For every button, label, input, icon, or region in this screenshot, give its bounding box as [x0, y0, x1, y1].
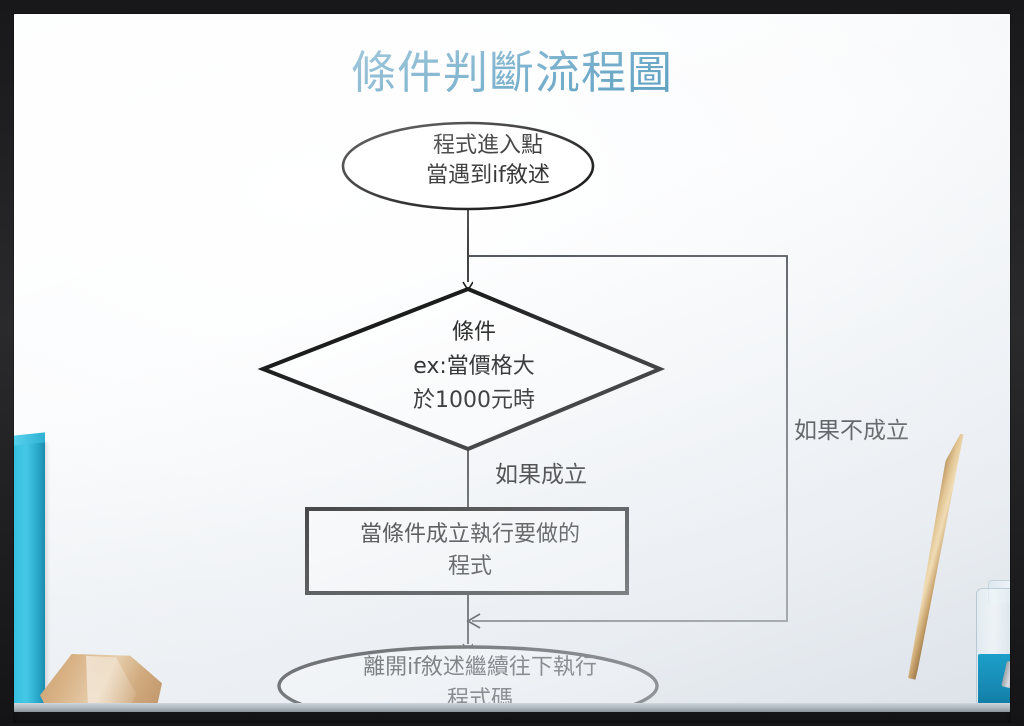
whiteboard-surface: 條件判斷流程圖: [14, 14, 1010, 712]
whiteboard-frame: 條件判斷流程圖: [0, 0, 1024, 726]
node-start-shape[interactable]: [343, 123, 593, 209]
node-decision-shape[interactable]: [263, 289, 660, 449]
flowchart-svg: [14, 14, 1010, 712]
node-process-shape[interactable]: [307, 509, 627, 593]
flowchart-diagram: 程式進入點 當遇到if敘述 條件 ex:當價格大 於1000元時 當條件成立執行…: [14, 14, 1010, 712]
board-bottom-ledge: [14, 703, 1010, 712]
